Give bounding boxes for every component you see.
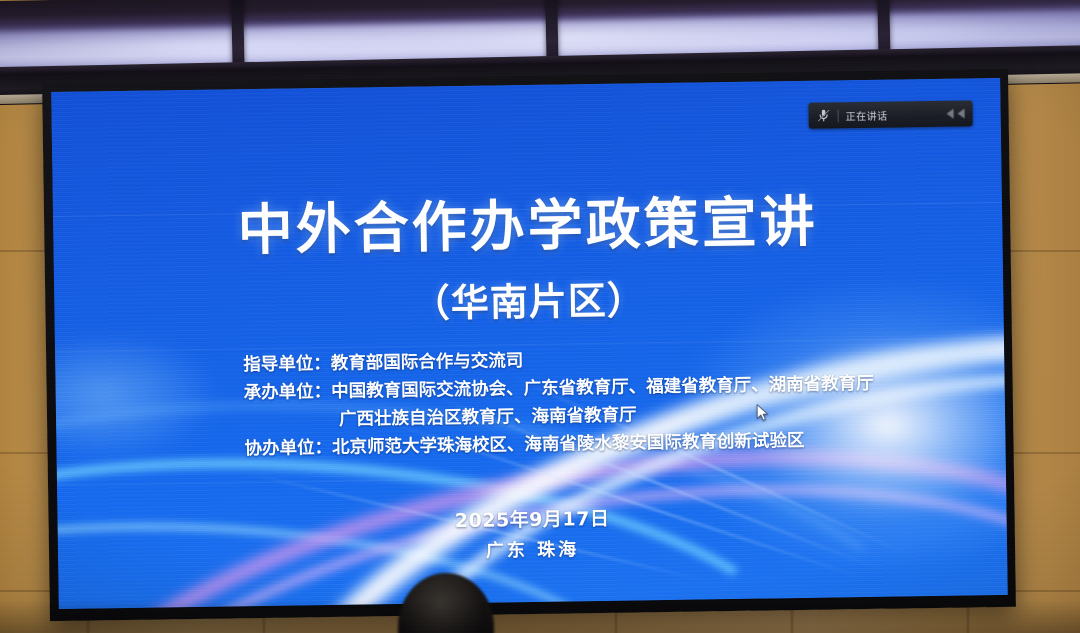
photo-scene: 正在讲话 中外合作办学政策宣讲 （华南片区） 指导单位：教育部国际合作与交流司 … [0,0,1080,633]
photo-vignette [0,0,1080,633]
